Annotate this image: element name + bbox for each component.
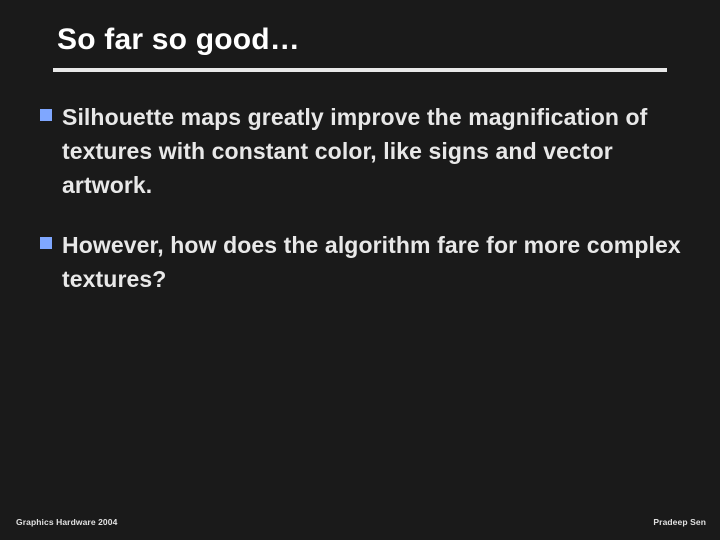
slide-footer: Graphics Hardware 2004 Pradeep Sen (0, 514, 720, 540)
list-item: However, how does the algorithm fare for… (0, 228, 720, 296)
title-divider-rule (53, 68, 667, 72)
presentation-slide: So far so good… Silhouette maps greatly … (0, 0, 720, 540)
list-item: Silhouette maps greatly improve the magn… (0, 100, 720, 202)
bullet-text: However, how does the algorithm fare for… (62, 228, 706, 296)
page-title: So far so good… (57, 21, 300, 59)
footer-author-label: Pradeep Sen (653, 517, 706, 527)
footer-conference-label: Graphics Hardware 2004 (16, 517, 117, 527)
bullet-text: Silhouette maps greatly improve the magn… (62, 100, 706, 202)
square-bullet-icon (40, 109, 52, 121)
slide-body: Silhouette maps greatly improve the magn… (0, 100, 720, 322)
square-bullet-icon (40, 237, 52, 249)
